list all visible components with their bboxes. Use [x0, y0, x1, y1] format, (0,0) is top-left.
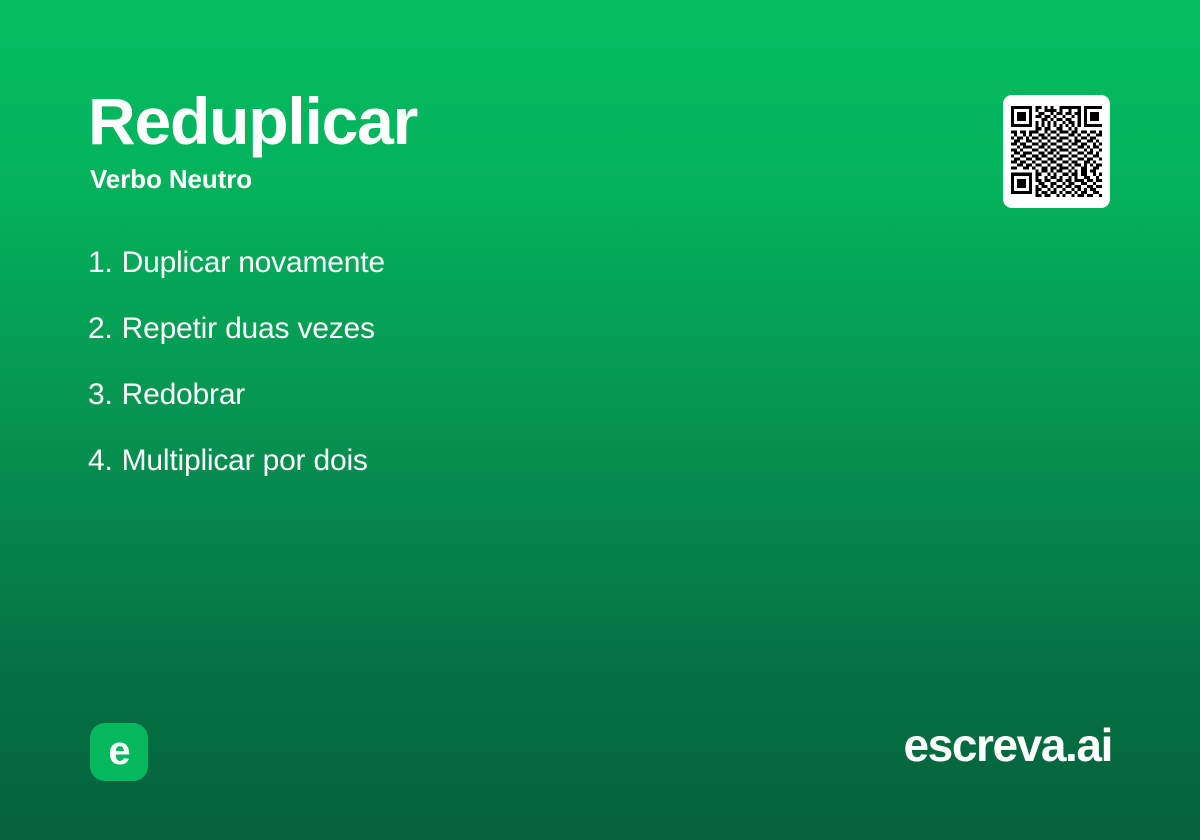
page-title: Reduplicar — [88, 88, 908, 155]
definition-item: 1.Duplicar novamente — [88, 246, 928, 312]
definition-item: 4.Multiplicar por dois — [88, 444, 928, 510]
definition-text: Redobrar — [122, 378, 245, 412]
definition-item: 3.Redobrar — [88, 378, 928, 444]
definition-text: Duplicar novamente — [122, 246, 385, 280]
definition-index: 3. — [88, 378, 113, 412]
definition-text: Multiplicar por dois — [122, 444, 368, 478]
word-class-label: Verbo Neutro — [90, 165, 908, 194]
escreva-logo-letter: e — [108, 731, 129, 771]
definition-text: Repetir duas vezes — [122, 312, 375, 346]
headword-block: Reduplicar Verbo Neutro — [88, 88, 908, 194]
qr-code-icon — [1011, 106, 1102, 197]
definition-index: 4. — [88, 444, 113, 478]
definitions-list: 1.Duplicar novamente2.Repetir duas vezes… — [88, 246, 928, 510]
definition-item: 2.Repetir duas vezes — [88, 312, 928, 378]
brand-wordmark: escreva.ai — [903, 722, 1112, 768]
qr-code-card[interactable] — [1003, 95, 1110, 208]
definition-index: 2. — [88, 312, 113, 346]
dictionary-entry-card: Reduplicar Verbo Neutro 1.Duplicar novam… — [0, 0, 1200, 840]
definition-index: 1. — [88, 246, 113, 280]
escreva-logo[interactable]: e — [90, 723, 148, 781]
